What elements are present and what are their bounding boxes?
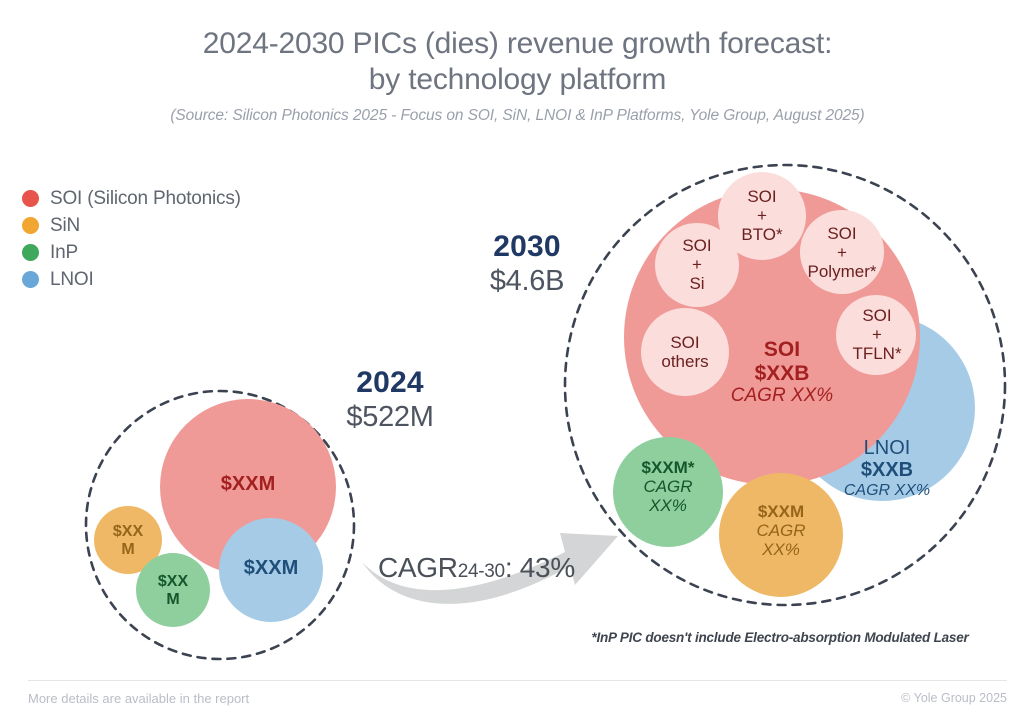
- bubble-2030-sin: [719, 473, 843, 597]
- footer-copyright: © Yole Group 2025: [901, 691, 1007, 705]
- footnote: *InP PIC doesn't include Electro-absorpt…: [560, 630, 1000, 645]
- cluster-2030: [565, 165, 1005, 605]
- callout-2024: 2024 $522M: [310, 366, 470, 434]
- bubble-2030-soi-sub-tfln: [836, 295, 916, 375]
- cagr-label-period: 24-30: [458, 561, 505, 582]
- bubble-2024-lnoi: [219, 518, 323, 622]
- bubble-2030-soi-sub-polymer: [800, 210, 884, 294]
- cagr-label-value: : 43%: [505, 552, 575, 583]
- infographic-slide: 2024-2030 PICs (dies) revenue growth for…: [0, 0, 1035, 725]
- callout-2024-total: $522M: [310, 400, 470, 434]
- footer-divider: [28, 680, 1007, 681]
- callout-2024-year: 2024: [310, 366, 470, 400]
- bubble-2030-soi-sub-bto: [718, 172, 806, 260]
- cagr-arrow-label: CAGR24-30: 43%: [378, 552, 575, 584]
- callout-2030: 2030 $4.6B: [452, 230, 602, 298]
- cagr-label-main: CAGR: [378, 552, 458, 583]
- callout-2030-year: 2030: [452, 230, 602, 264]
- bubble-2024-inp: [136, 553, 210, 627]
- bubble-2030-soi-sub-others: [641, 308, 729, 396]
- bubble-chart-canvas: [0, 0, 1035, 725]
- callout-2030-total: $4.6B: [452, 264, 602, 298]
- footer-note: More details are available in the report: [28, 691, 249, 706]
- bubble-2030-inp: [613, 437, 723, 547]
